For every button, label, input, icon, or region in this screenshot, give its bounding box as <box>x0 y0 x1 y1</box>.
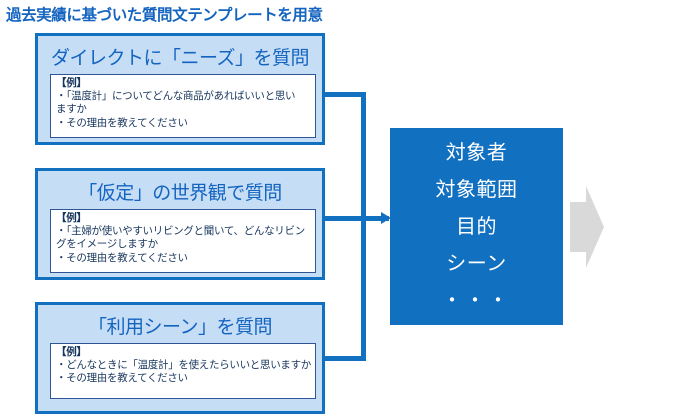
target-line-5: ・・・ <box>442 291 511 311</box>
example-line: ・その理由を教えてください <box>56 117 311 130</box>
page-title: 過去実績に基づいた質問文テンプレートを用意 <box>6 3 323 25</box>
example-label: 【例】 <box>56 346 311 359</box>
question-box-1-heading: ダイレクトに「ニーズ」を質問 <box>38 43 322 70</box>
example-line: グをイメージしますか <box>56 238 311 251</box>
example-line: ・「温度計」についてどんな商品があればいいと思い <box>56 90 311 103</box>
example-line: ・その理由を教えてください <box>56 252 311 265</box>
connector-line-bottom <box>322 356 366 361</box>
question-box-1: ダイレクトに「ニーズ」を質問 【例】 ・「温度計」についてどんな商品があればいい… <box>35 33 325 145</box>
target-line-2: 対象範囲 <box>436 180 518 200</box>
question-box-3-heading: 「利用シーン」を質問 <box>38 312 322 339</box>
example-line: ・その理由を教えてください <box>56 372 311 385</box>
example-label: 【例】 <box>56 77 311 90</box>
connector-line-top <box>322 92 366 97</box>
target-line-1: 対象者 <box>446 143 508 163</box>
question-box-2-heading: 「仮定」の世界観で質問 <box>38 178 322 205</box>
connector-spine <box>361 92 366 361</box>
question-box-2-example: 【例】 ・「主婦が使いやすいリビングと聞いて、どんなリビン グをイメージしますか… <box>50 209 316 273</box>
example-line: ・どんなときに「温度計」を使えたらいいと思いますか <box>56 359 311 372</box>
diagram-canvas: 過去実績に基づいた質問文テンプレートを用意 ダイレクトに「ニーズ」を質問 【例】… <box>0 0 700 419</box>
question-box-2: 「仮定」の世界観で質問 【例】 ・「主婦が使いやすいリビングと聞いて、どんなリビ… <box>35 168 325 280</box>
question-box-1-example: 【例】 ・「温度計」についてどんな商品があればいいと思い ますか ・その理由を教… <box>50 74 316 138</box>
example-line: ますか <box>56 103 311 116</box>
question-box-3: 「利用シーン」を質問 【例】 ・どんなときに「温度計」を使えたらいいと思いますか… <box>35 302 325 414</box>
example-line: ・「主婦が使いやすいリビングと聞いて、どんなリビン <box>56 225 311 238</box>
flow-right-arrow-icon <box>570 186 604 268</box>
example-label: 【例】 <box>56 212 311 225</box>
target-line-4: シーン <box>446 254 507 274</box>
target-line-3: 目的 <box>456 217 497 237</box>
connector-line-middle <box>322 216 366 221</box>
question-box-3-example: 【例】 ・どんなときに「温度計」を使えたらいいと思いますか ・その理由を教えてく… <box>50 343 316 399</box>
target-attributes-box: 対象者 対象範囲 目的 シーン ・・・ <box>390 128 563 325</box>
